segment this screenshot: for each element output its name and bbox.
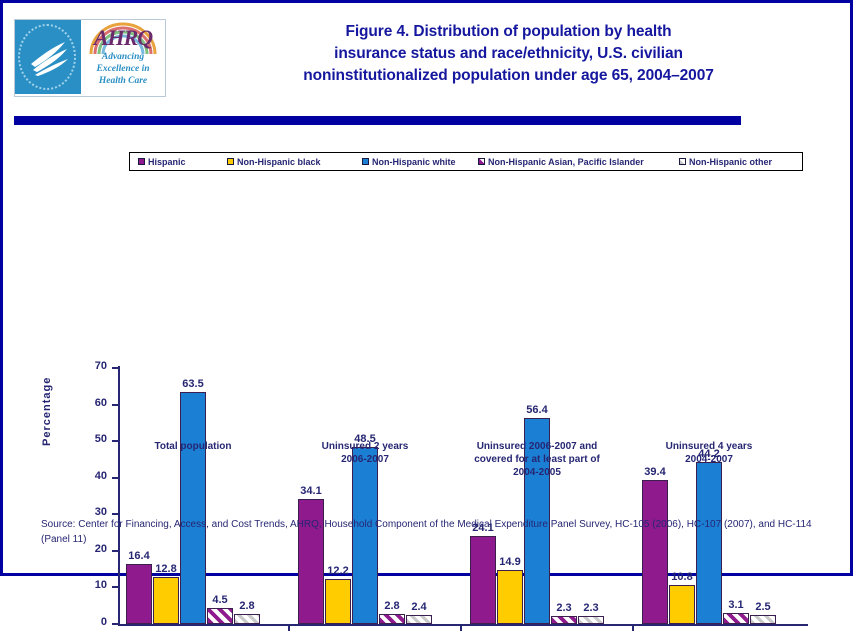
legend-label: Non-Hispanic other bbox=[689, 157, 772, 167]
bar-value-label: 56.4 bbox=[526, 404, 547, 416]
y-axis-line bbox=[118, 366, 120, 626]
bar-value-label: 2.3 bbox=[583, 602, 598, 614]
y-tick-label: 0 bbox=[81, 616, 107, 628]
figure-header: AHRQ Advancing Excellence in Health Care… bbox=[3, 3, 850, 108]
title-line-2: insurance status and race/ethnicity, U.S… bbox=[181, 43, 836, 65]
bar-non-hispanic-asian[interactable]: 2.8 bbox=[379, 614, 405, 624]
legend-label: Non-Hispanic Asian, Pacific Islander bbox=[488, 157, 644, 167]
y-tick bbox=[112, 367, 118, 369]
bar-value-label: 2.3 bbox=[556, 602, 571, 614]
title-divider bbox=[14, 116, 741, 125]
bar-value-label: 39.4 bbox=[644, 466, 665, 478]
y-tick bbox=[112, 586, 118, 588]
bar-value-label: 3.1 bbox=[728, 599, 743, 611]
hhs-seal-icon bbox=[15, 20, 81, 94]
bar-group-bars: 16.412.863.54.52.8 bbox=[126, 366, 260, 624]
bar-group-bars: 24.114.956.42.32.3 bbox=[470, 366, 604, 624]
bar-value-label: 14.9 bbox=[499, 556, 520, 568]
legend-label: Hispanic bbox=[148, 157, 186, 167]
legend-swatch-non-hispanic-black bbox=[227, 158, 234, 165]
legend-swatch-non-hispanic-asian bbox=[478, 158, 485, 165]
bar-value-label: 12.8 bbox=[155, 563, 176, 575]
page-title: Figure 4. Distribution of population by … bbox=[181, 21, 836, 87]
x-category-label-line: Uninsured 4 years bbox=[602, 440, 816, 453]
figure-page: AHRQ Advancing Excellence in Health Care… bbox=[0, 0, 853, 576]
bar-value-label: 2.8 bbox=[384, 600, 399, 612]
y-tick-label: 10 bbox=[81, 579, 107, 591]
bar-group: 16.412.863.54.52.8 bbox=[126, 366, 260, 624]
bar-hispanic[interactable]: 24.1 bbox=[470, 536, 496, 624]
bar-non-hispanic-other[interactable]: 2.8 bbox=[234, 614, 260, 624]
bar-value-label: 16.4 bbox=[128, 550, 149, 562]
bar-value-label: 2.8 bbox=[239, 600, 254, 612]
legend-label: Non-Hispanic black bbox=[237, 157, 321, 167]
bar-non-hispanic-asian[interactable]: 2.3 bbox=[551, 616, 577, 624]
bar-non-hispanic-other[interactable]: 2.3 bbox=[578, 616, 604, 624]
bar-value-label: 4.5 bbox=[212, 594, 227, 606]
x-category-label-line: 2004-2007 bbox=[602, 453, 816, 466]
y-tick bbox=[112, 623, 118, 625]
bar-value-label: 34.1 bbox=[300, 485, 321, 497]
legend-item-hispanic[interactable]: Hispanic bbox=[138, 157, 186, 167]
bar-group: 34.112.248.52.82.4 bbox=[298, 366, 432, 624]
y-tick bbox=[112, 404, 118, 406]
bar-non-hispanic-black[interactable]: 10.8 bbox=[669, 585, 695, 624]
ahrq-tagline-line3: Health Care bbox=[81, 76, 165, 87]
legend-item-non-hispanic-white[interactable]: Non-Hispanic white bbox=[362, 157, 456, 167]
x-category-label: Uninsured 4 years2004-2007 bbox=[602, 440, 816, 466]
bar-non-hispanic-black[interactable]: 12.8 bbox=[153, 577, 179, 624]
x-tick bbox=[288, 624, 290, 631]
bar-value-label: 10.8 bbox=[671, 571, 692, 583]
y-tick bbox=[112, 477, 118, 479]
legend-swatch-hispanic bbox=[138, 158, 145, 165]
bar-non-hispanic-black[interactable]: 14.9 bbox=[497, 570, 523, 624]
legend-item-non-hispanic-other[interactable]: Non-Hispanic other bbox=[679, 157, 772, 167]
source-note: Source: Center for Financing, Access, an… bbox=[41, 517, 831, 547]
legend-label: Non-Hispanic white bbox=[372, 157, 456, 167]
y-tick-label: 40 bbox=[81, 470, 107, 482]
legend-swatch-non-hispanic-white bbox=[362, 158, 369, 165]
bar-non-hispanic-other[interactable]: 2.4 bbox=[406, 615, 432, 624]
bar-non-hispanic-white[interactable]: 63.5 bbox=[180, 392, 206, 624]
bar-value-label: 2.4 bbox=[411, 601, 426, 613]
legend-item-non-hispanic-black[interactable]: Non-Hispanic black bbox=[227, 157, 321, 167]
y-tick bbox=[112, 513, 118, 515]
bar-non-hispanic-black[interactable]: 12.2 bbox=[325, 579, 351, 624]
bar-hispanic[interactable]: 16.4 bbox=[126, 564, 152, 624]
bar-value-label: 2.5 bbox=[755, 601, 770, 613]
ahrq-logo: AHRQ Advancing Excellence in Health Care bbox=[14, 19, 166, 97]
title-line-3: noninstitutionalized population under ag… bbox=[181, 65, 836, 87]
y-tick-label: 60 bbox=[81, 397, 107, 409]
legend-item-non-hispanic-asian[interactable]: Non-Hispanic Asian, Pacific Islander bbox=[478, 157, 644, 167]
title-line-1: Figure 4. Distribution of population by … bbox=[181, 21, 836, 43]
bar-non-hispanic-asian[interactable]: 3.1 bbox=[723, 613, 749, 624]
ahrq-wordmark: AHRQ Advancing Excellence in Health Care bbox=[81, 20, 165, 96]
bar-group-bars: 39.410.844.23.12.5 bbox=[642, 366, 776, 624]
bar-group-bars: 34.112.248.52.82.4 bbox=[298, 366, 432, 624]
bar-group: 24.114.956.42.32.3 bbox=[470, 366, 604, 624]
x-axis-line bbox=[118, 624, 808, 626]
bar-hispanic[interactable]: 39.4 bbox=[642, 480, 668, 624]
bar-non-hispanic-asian[interactable]: 4.5 bbox=[207, 608, 233, 624]
y-tick-label: 70 bbox=[81, 360, 107, 372]
chart-legend: HispanicNon-Hispanic blackNon-Hispanic w… bbox=[129, 152, 803, 171]
bar-non-hispanic-other[interactable]: 2.5 bbox=[750, 615, 776, 624]
ahrq-brand-text: AHRQ bbox=[81, 25, 165, 51]
hhs-bird-icon bbox=[25, 34, 73, 80]
y-tick bbox=[112, 550, 118, 552]
x-tick bbox=[460, 624, 462, 631]
x-category-label-line: 2004-2005 bbox=[430, 466, 644, 479]
ahrq-tagline-line2: Excellence in bbox=[81, 64, 165, 75]
legend-swatch-non-hispanic-other bbox=[679, 158, 686, 165]
y-axis-label: Percentage bbox=[41, 430, 53, 446]
x-tick bbox=[632, 624, 634, 631]
chart-plot-area: Percentage 01020304050607016.412.863.54.… bbox=[3, 178, 850, 468]
bar-group: 39.410.844.23.12.5 bbox=[642, 366, 776, 624]
bar-value-label: 63.5 bbox=[182, 378, 203, 390]
